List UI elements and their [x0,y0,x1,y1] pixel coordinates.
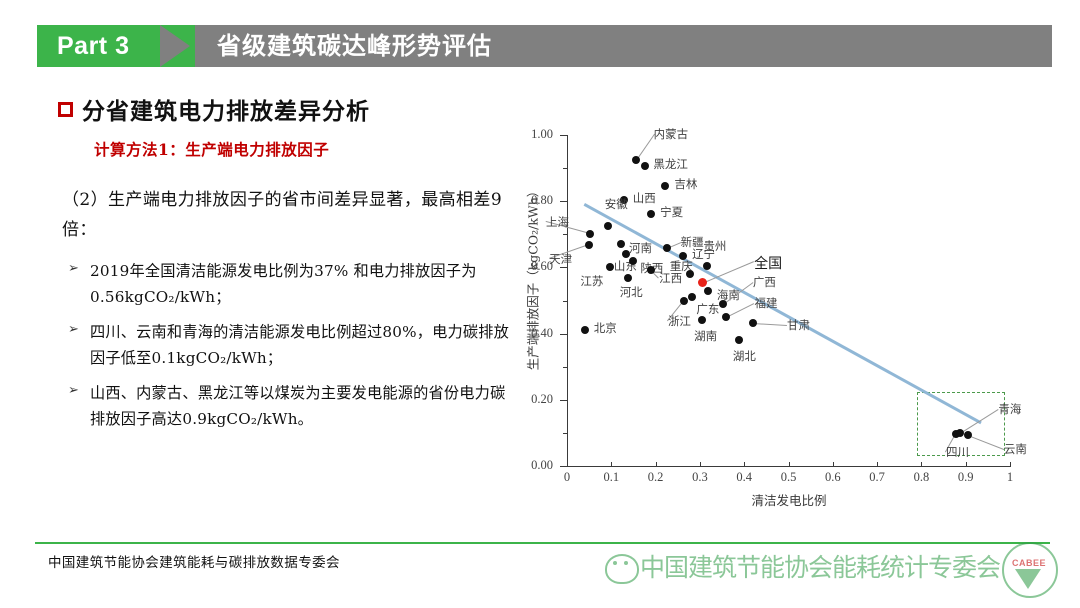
data-point-label: 黑龙江 [653,156,688,172]
y-tick-label: 0.20 [493,392,553,407]
list-item: ➢山西、内蒙古、黑龙江等以煤炭为主要发电能源的省份电力碳排放因子高达0.9kgC… [68,380,518,432]
smiley-icon [605,554,639,584]
data-point-label: 内蒙古 [654,126,689,142]
data-point-label: 贵州 [703,238,726,254]
data-point-label: 湖南 [694,328,717,344]
cabee-logo: CABEE [1002,542,1058,600]
y-tick [560,135,567,136]
data-point[interactable] [632,156,640,164]
data-point-label: 江苏 [580,273,603,289]
data-point-label: 四川 [946,444,969,460]
y-tick [560,334,567,335]
y-tick-label: 1.00 [493,127,553,142]
data-point-label: 北京 [594,320,617,336]
watermark-text: 中国建筑节能协会能耗统计专委会 [640,548,1000,584]
data-point-label: 安徽 [605,196,628,212]
x-tick [921,462,922,467]
x-tick [567,462,568,467]
y-tick-label: 0.00 [493,458,553,473]
x-tick-label: 0.8 [906,470,936,485]
x-tick-label: 0 [552,470,582,485]
data-point-label: 青海 [998,401,1021,417]
data-point-label: 广东 [696,301,719,317]
data-point[interactable] [647,210,655,218]
data-point[interactable] [719,300,727,308]
x-tick-label: 0.6 [818,470,848,485]
x-tick-label: 0.7 [862,470,892,485]
x-tick [744,462,745,467]
x-tick-label: 0.9 [951,470,981,485]
arrow-bullet-icon: ➢ [68,380,79,402]
y-tick-label: 0.60 [493,259,553,274]
data-point-label: 广西 [753,274,776,290]
data-point-label: 宁夏 [660,204,683,220]
data-point-label: 山西 [633,190,656,206]
x-tick-label: 0.4 [729,470,759,485]
list-item: ➢2019年全国清洁能源发电比例为37% 和电力排放因子为0.56kgCO₂/k… [68,258,518,310]
x-tick-label: 1 [995,470,1025,485]
data-point[interactable] [749,319,757,327]
x-tick [833,462,834,467]
data-point-label: 湖北 [733,348,756,364]
x-tick-label: 0.1 [596,470,626,485]
data-point-label: 河南 [629,240,652,256]
y-tick-minor [563,234,567,235]
data-point-label: 全国 [754,253,782,273]
data-point[interactable] [704,287,712,295]
y-tick-minor [563,168,567,169]
data-point-label: 甘肃 [787,317,810,333]
lead-paragraph: （2）生产端电力排放因子的省市间差异显著，最高相差9倍： [62,186,518,246]
list-item-text: 2019年全国清洁能源发电比例为37% 和电力排放因子为0.56kgCO₂/kW… [90,262,477,306]
data-point-label: 河北 [620,284,643,300]
data-point[interactable] [624,274,632,282]
data-point[interactable] [581,326,589,334]
scatter-chart: 生产端排放因子（kgCO₂/kWh） 0.000.200.400.600.801… [505,118,1065,513]
x-tick [700,462,701,467]
slide-title: 省级建筑碳达峰形势评估 [217,25,492,67]
data-point[interactable] [585,241,593,249]
x-tick [611,462,612,467]
watermark: 中国建筑节能协会能耗统计专委会 CABEE [600,540,1060,602]
data-point[interactable] [735,336,743,344]
square-bullet-icon [58,102,73,117]
data-point[interactable] [604,222,612,230]
x-tick [966,462,967,467]
data-point-label: 吉林 [674,176,697,192]
y-tick-minor [563,433,567,434]
list-item-text: 山西、内蒙古、黑龙江等以煤炭为主要发电能源的省份电力碳排放因子高达0.9kgCO… [90,384,505,428]
data-point-label: 天津 [549,251,572,267]
bullet-list: ➢2019年全国清洁能源发电比例为37% 和电力排放因子为0.56kgCO₂/k… [68,258,518,433]
data-point-label: 福建 [754,295,777,311]
arrow-bullet-icon: ➢ [68,258,79,280]
y-tick [560,466,567,467]
footer-organization: 中国建筑节能协会建筑能耗与碳排放数据专委会 [48,551,340,571]
x-tick-label: 0.2 [641,470,671,485]
section-heading: 分省建筑电力排放差异分析 [58,92,518,126]
logo-text: CABEE [1006,558,1052,568]
y-tick-label: 0.40 [493,326,553,341]
x-tick [877,462,878,467]
header-chevron-icon [160,25,190,67]
left-content: 分省建筑电力排放差异分析 计算方法1：生产端电力排放因子 （2）生产端电力排放因… [58,92,518,441]
data-point-label: 浙江 [668,313,691,329]
list-item: ➢四川、云南和青海的清洁能源发电比例超过80%，电力碳排放因子低至0.1kgCO… [68,319,518,371]
data-point[interactable] [663,244,671,252]
x-axis-label: 清洁发电比例 [567,490,1011,509]
x-tick [1010,462,1011,467]
slide-header: Part 3 省级建筑碳达峰形势评估 [37,25,1052,67]
y-tick-minor [563,367,567,368]
section-heading-text: 分省建筑电力排放差异分析 [82,92,370,126]
y-tick [560,267,567,268]
logo-triangle-icon [1015,569,1041,589]
x-tick [789,462,790,467]
y-tick [560,201,567,202]
y-tick [560,400,567,401]
part-label: Part 3 [57,25,129,67]
y-tick-label: 0.80 [493,193,553,208]
arrow-bullet-icon: ➢ [68,319,79,341]
x-tick [656,462,657,467]
x-tick-label: 0.5 [774,470,804,485]
data-point-label: 云南 [1004,441,1027,457]
data-point[interactable] [617,240,625,248]
data-point-label: 重庆 [670,258,693,274]
list-item-text: 四川、云南和青海的清洁能源发电比例超过80%，电力碳排放因子低至0.1kgCO₂… [90,323,509,367]
data-point-label: 上海 [546,214,569,230]
x-tick-label: 0.3 [685,470,715,485]
method-subtitle: 计算方法1：生产端电力排放因子 [94,138,518,160]
y-tick-minor [563,301,567,302]
